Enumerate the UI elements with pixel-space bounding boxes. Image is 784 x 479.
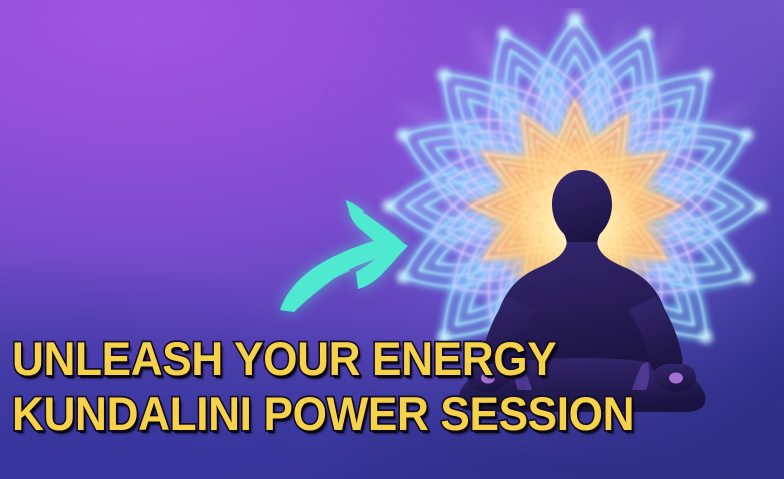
arrow-svg [276, 188, 424, 314]
arrow-shape [280, 200, 408, 312]
headline-block: UNLEASH YOUR ENERGY KUNDALINI POWER SESS… [12, 331, 752, 441]
headline-line-2: KUNDALINI POWER SESSION [12, 386, 708, 441]
headline-line-1: UNLEASH YOUR ENERGY [12, 331, 708, 386]
thumbnail-canvas: UNLEASH YOUR ENERGY KUNDALINI POWER SESS… [0, 0, 784, 479]
brush-stroke-arrow [276, 188, 424, 314]
